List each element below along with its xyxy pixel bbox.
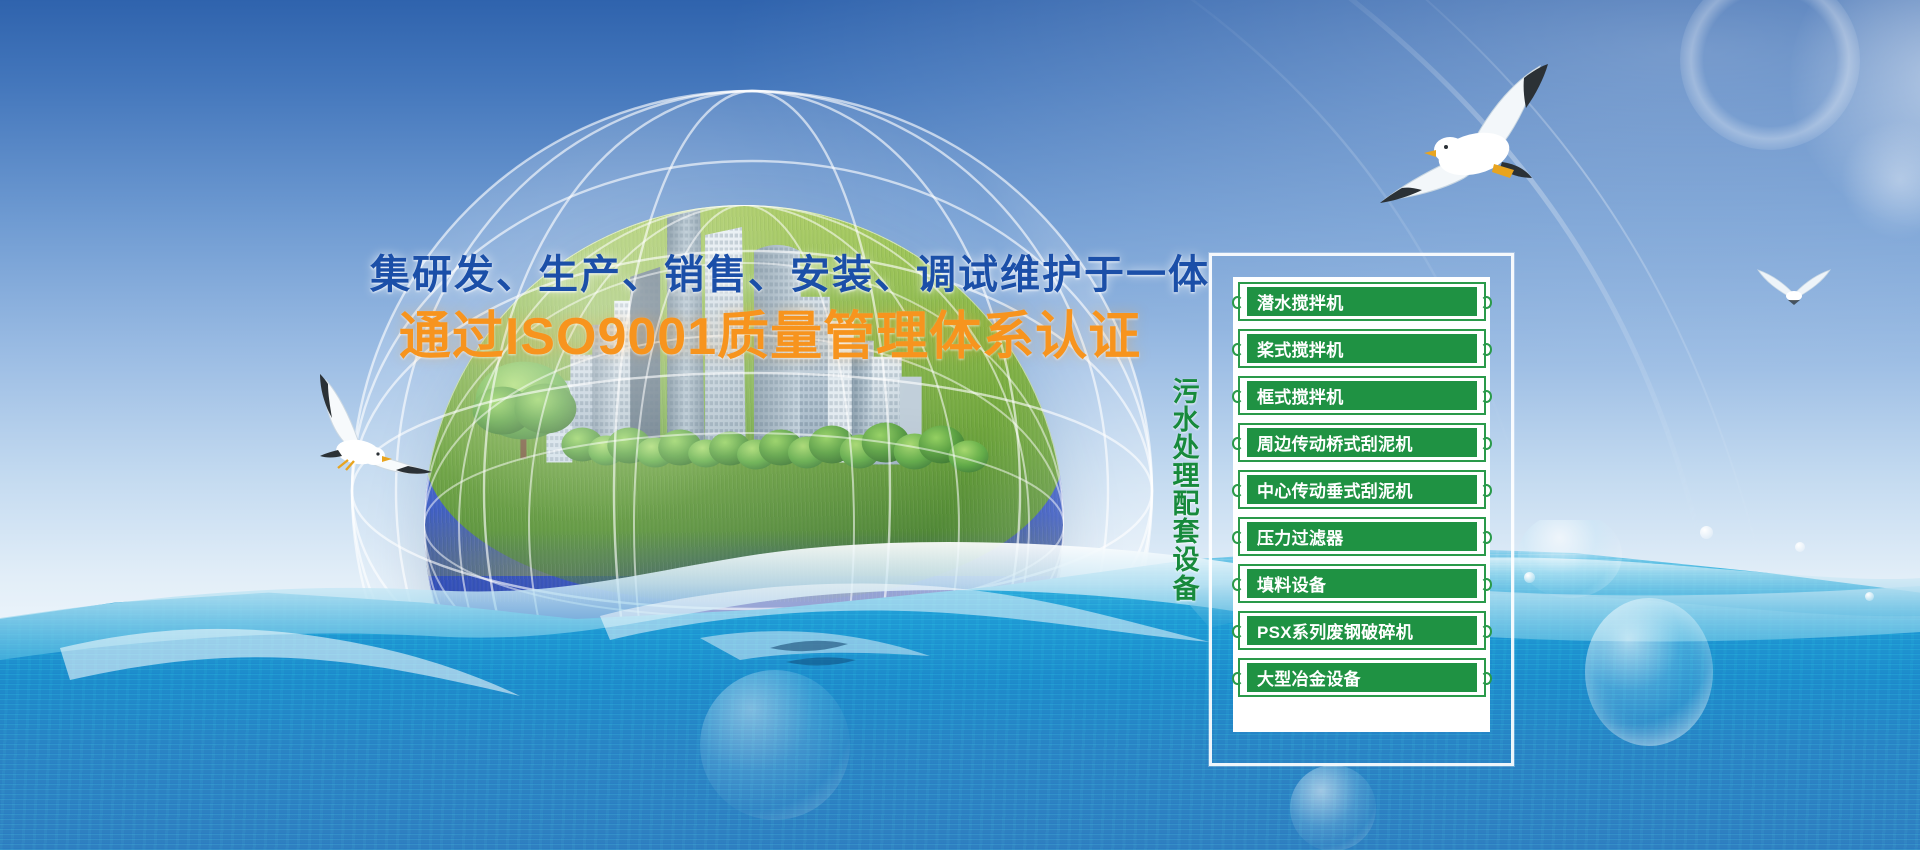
product-list-item[interactable]: 大型冶金设备	[1238, 661, 1486, 694]
product-panel-vertical-label: 污 水 处 理 配 套 设 备	[1166, 378, 1206, 603]
item-notch-left-icon	[1232, 296, 1243, 309]
item-notch-left-icon	[1232, 390, 1243, 403]
item-label: 周边传动桥式刮泥机	[1247, 430, 1413, 455]
item-notch-left-icon	[1232, 343, 1243, 356]
product-list-item[interactable]: 潜水搅拌机	[1238, 285, 1486, 318]
water-bubble-dot-a	[1700, 526, 1713, 539]
water-bubble-dot-b	[1795, 542, 1805, 552]
item-label: 潜水搅拌机	[1247, 289, 1344, 314]
item-plate: 周边传动桥式刮泥机	[1245, 426, 1479, 459]
item-label: PSX系列废钢破碎机	[1247, 618, 1413, 643]
item-plate: 框式搅拌机	[1245, 379, 1479, 412]
product-list-item[interactable]: 桨式搅拌机	[1238, 332, 1486, 365]
seagull-medium-icon	[296, 366, 448, 484]
seagull-small-icon	[1748, 258, 1840, 316]
item-label: 框式搅拌机	[1247, 383, 1344, 408]
product-list-item[interactable]: 中心传动垂式刮泥机	[1238, 473, 1486, 506]
vlabel-char-0: 污	[1166, 378, 1206, 406]
product-list-item[interactable]: 填料设备	[1238, 567, 1486, 600]
seagull-large-icon	[1364, 58, 1574, 228]
product-list-item[interactable]: 周边传动桥式刮泥机	[1238, 426, 1486, 459]
item-label: 大型冶金设备	[1247, 665, 1361, 690]
product-list-item[interactable]: 框式搅拌机	[1238, 379, 1486, 412]
vlabel-char-1: 水	[1166, 406, 1206, 434]
vlabel-char-5: 套	[1166, 518, 1206, 546]
item-notch-left-icon	[1232, 672, 1243, 685]
vlabel-char-2: 处	[1166, 434, 1206, 462]
item-notch-right-icon	[1481, 390, 1492, 403]
item-notch-left-icon	[1232, 578, 1243, 591]
item-notch-right-icon	[1481, 625, 1492, 638]
item-plate: 填料设备	[1245, 567, 1479, 600]
item-label: 桨式搅拌机	[1247, 336, 1344, 361]
vlabel-char-6: 设	[1166, 546, 1206, 574]
product-list-item[interactable]: PSX系列废钢破碎机	[1238, 614, 1486, 647]
item-notch-left-icon	[1232, 484, 1243, 497]
item-plate: 中心传动垂式刮泥机	[1245, 473, 1479, 506]
water-section	[0, 520, 1920, 850]
vlabel-char-3: 理	[1166, 462, 1206, 490]
item-label: 中心传动垂式刮泥机	[1247, 477, 1413, 502]
item-notch-left-icon	[1232, 437, 1243, 450]
item-notch-right-icon	[1481, 531, 1492, 544]
item-notch-right-icon	[1481, 672, 1492, 685]
ocean-ripples	[0, 520, 1920, 850]
item-plate: 桨式搅拌机	[1245, 332, 1479, 365]
item-notch-left-icon	[1232, 531, 1243, 544]
item-notch-right-icon	[1481, 578, 1492, 591]
item-plate: 大型冶金设备	[1245, 661, 1479, 694]
item-notch-right-icon	[1481, 437, 1492, 450]
item-plate: PSX系列废钢破碎机	[1245, 614, 1479, 647]
vlabel-char-7: 备	[1166, 575, 1206, 603]
item-notch-left-icon	[1232, 625, 1243, 638]
item-notch-right-icon	[1481, 296, 1492, 309]
item-label: 压力过滤器	[1247, 524, 1344, 549]
hero-banner: 集研发、生产、销售、安装、调试维护于一体 通过ISO9001质量管理体系认证 污…	[0, 0, 1920, 850]
tree-line	[424, 205, 1064, 499]
item-notch-right-icon	[1481, 343, 1492, 356]
product-list: 潜水搅拌机 桨式搅拌机 框式搅拌机 周边传动桥式刮泥机	[1238, 285, 1486, 708]
item-plate: 潜水搅拌机	[1245, 285, 1479, 318]
item-notch-right-icon	[1481, 484, 1492, 497]
vlabel-char-4: 配	[1166, 490, 1206, 518]
product-list-item[interactable]: 压力过滤器	[1238, 520, 1486, 553]
item-plate: 压力过滤器	[1245, 520, 1479, 553]
item-label: 填料设备	[1247, 571, 1326, 596]
